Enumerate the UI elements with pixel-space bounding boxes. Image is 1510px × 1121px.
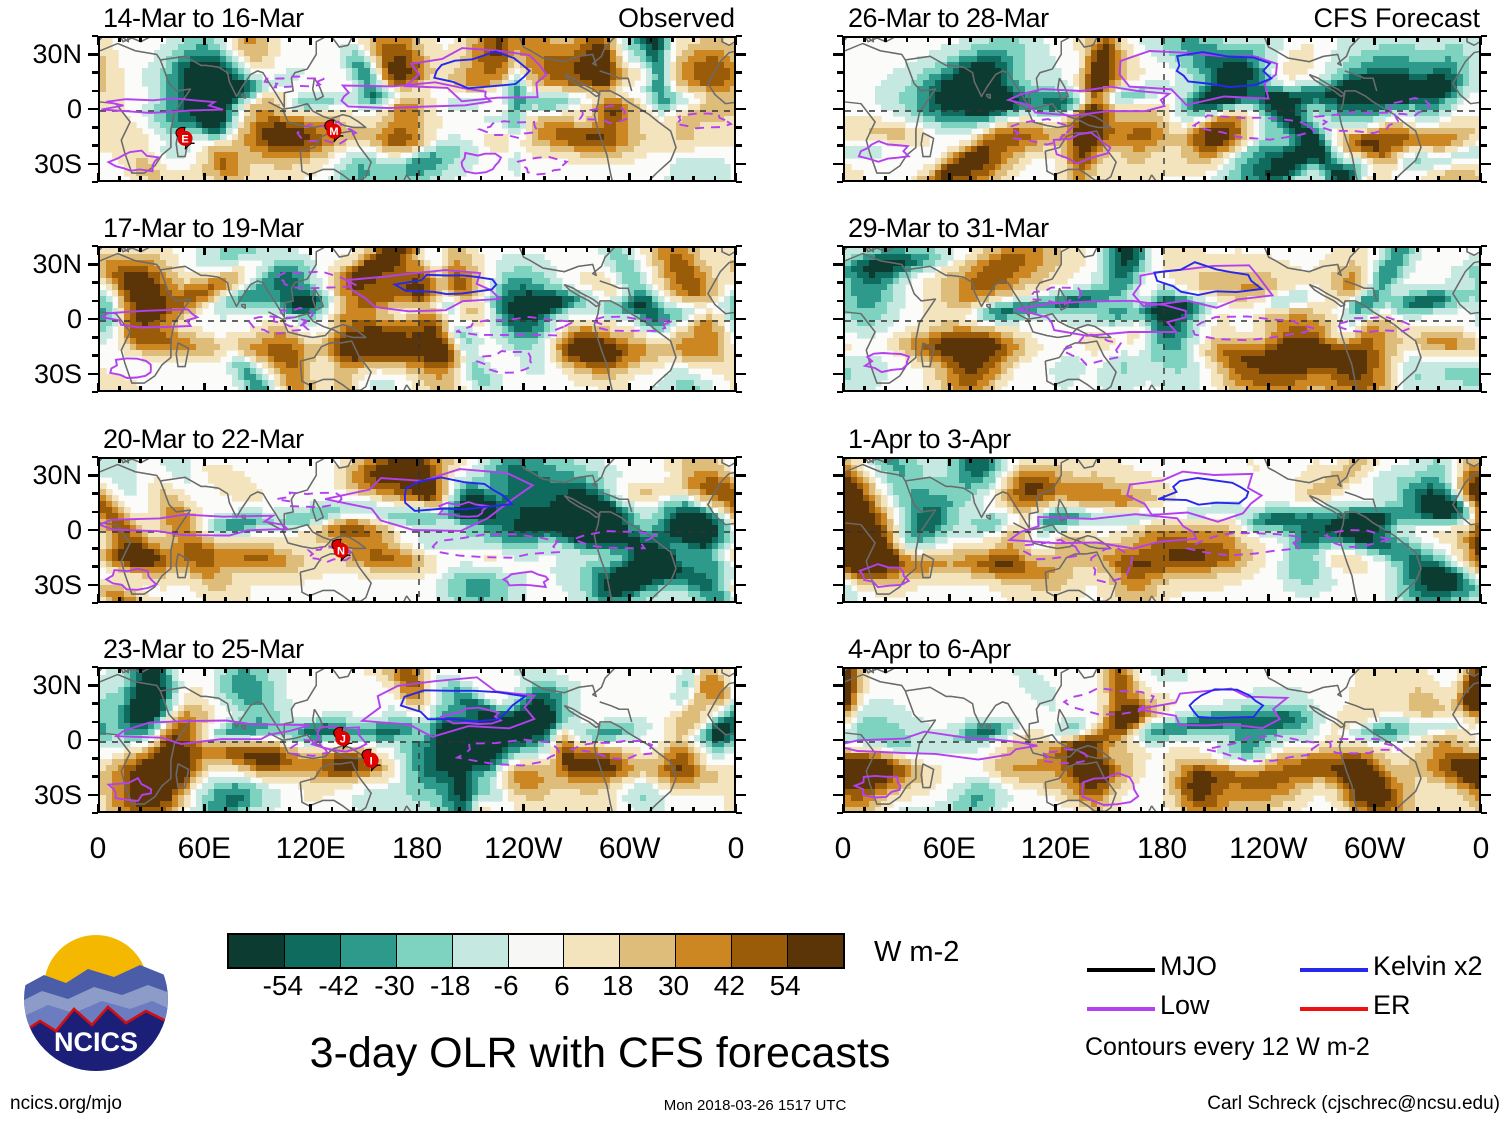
y-ticks-left-panel-7 [843,457,844,603]
x-tick-label: 120W [1229,834,1307,864]
legend-swatch-mjo [1087,968,1155,972]
x-tick-label: 60E [178,834,231,864]
y-tick-label: 0 [2,517,82,544]
y-tick-label: 30N [2,251,82,278]
x-ticks-bottom-panel-2 [98,392,736,393]
map-panel-4: JI [98,667,736,813]
contour-interval-note: Contours every 12 W m-2 [1085,1035,1370,1060]
y-tick-label: 30S [2,782,82,809]
ncics-logo[interactable]: NCICS [22,925,170,1073]
storm-label: N [337,545,345,557]
colorbar-swatch-1 [285,935,341,967]
legend-label-mjo: MJO [1160,953,1217,980]
legend-swatch-kelvin-x2 [1300,968,1368,972]
x-ticks-bottom-panel-3 [98,603,736,604]
y-ticks-right-panel-1 [736,36,737,182]
storm-label: M [329,126,338,138]
legend-swatch-er [1300,1007,1368,1011]
footer-timestamp: Mon 2018-03-26 1517 UTC [664,1097,847,1114]
x-ticks-top-panel-4 [98,667,736,668]
x-tick-label: 60W [599,834,661,864]
x-tick-label: 60W [1344,834,1406,864]
storm-label: I [370,755,373,767]
colorbar-swatch-6 [564,935,620,967]
footer-website[interactable]: ncics.org/mjo [10,1093,122,1115]
colorbar-tick-label: 54 [745,972,825,1000]
colorbar-swatch-0 [229,935,285,967]
y-ticks-right-panel-8 [1481,667,1482,813]
map-panel-1: EM [98,36,736,182]
colorbar [227,933,845,969]
x-ticks-top-panel-6 [843,246,1481,247]
y-ticks-right-panel-4 [736,667,737,813]
y-tick-label: 30N [2,462,82,489]
y-tick-label: 0 [2,96,82,123]
x-ticks-bottom-panel-8 [843,813,1481,814]
y-ticks-left-panel-4 [98,667,99,813]
colorbar-swatch-9 [732,935,788,967]
x-tick-label: 120E [1021,834,1091,864]
x-ticks-top-panel-7 [843,457,1481,458]
x-tick-label: 0 [90,834,107,864]
y-tick-label: 30N [2,41,82,68]
y-ticks-right-panel-7 [1481,457,1482,603]
map-panel-6 [843,246,1481,392]
legend-label-er: ER [1373,992,1411,1019]
x-ticks-top-panel-2 [98,246,736,247]
y-ticks-right-panel-6 [1481,246,1482,392]
x-ticks-top-panel-3 [98,457,736,458]
y-ticks-left-panel-8 [843,667,844,813]
map-panel-3: N [98,457,736,603]
colorbar-swatch-3 [397,935,453,967]
x-tick-label: 60E [923,834,976,864]
panel-title-5: 26-Mar to 28-Mar [848,5,1049,32]
y-ticks-left-panel-2 [98,246,99,392]
x-ticks-bottom-panel-7 [843,603,1481,604]
legend-label-low: Low [1160,992,1210,1019]
x-ticks-bottom-panel-1 [98,182,736,183]
y-ticks-right-panel-2 [736,246,737,392]
x-ticks-bottom-panel-5 [843,182,1481,183]
column-header-right: CFS Forecast [1313,5,1480,32]
y-tick-label: 30S [2,151,82,178]
x-tick-label: 120E [276,834,346,864]
map-panel-2 [98,246,736,392]
y-ticks-right-panel-5 [1481,36,1482,182]
y-tick-label: 30N [2,672,82,699]
x-ticks-bottom-panel-4 [98,813,736,814]
map-panel-8 [843,667,1481,813]
colorbar-swatch-8 [676,935,732,967]
colorbar-swatch-7 [620,935,676,967]
colorbar-swatch-5 [509,935,565,967]
map-panel-7 [843,457,1481,603]
legend-swatch-low [1087,1007,1155,1011]
y-ticks-right-panel-3 [736,457,737,603]
x-tick-label: 180 [1137,834,1187,864]
x-tick-label: 0 [1473,834,1490,864]
x-ticks-top-panel-5 [843,36,1481,37]
x-tick-label: 0 [728,834,745,864]
main-title: 3-day OLR with CFS forecasts [310,1032,891,1075]
column-header-left: Observed [618,5,735,32]
panel-title-3: 20-Mar to 22-Mar [103,426,304,453]
y-tick-label: 0 [2,727,82,754]
x-ticks-top-panel-8 [843,667,1481,668]
y-tick-label: 30S [2,572,82,599]
x-tick-label: 180 [392,834,442,864]
colorbar-swatch-2 [341,935,397,967]
y-ticks-left-panel-6 [843,246,844,392]
y-tick-label: 0 [2,306,82,333]
legend-label-kelvin-x2: Kelvin x2 [1373,953,1483,980]
colorbar-swatch-10 [788,935,843,967]
colorbar-units-label: W m-2 [874,938,959,967]
storm-label: J [340,733,346,745]
panel-title-6: 29-Mar to 31-Mar [848,215,1049,242]
y-ticks-left-panel-1 [98,36,99,182]
x-ticks-top-panel-1 [98,36,736,37]
footer-author: Carl Schreck (cjschrec@ncsu.edu) [1207,1093,1500,1115]
panel-title-1: 14-Mar to 16-Mar [103,5,304,32]
y-ticks-left-panel-3 [98,457,99,603]
panel-title-7: 1-Apr to 3-Apr [848,426,1011,453]
storm-label: E [181,133,188,145]
panel-title-4: 23-Mar to 25-Mar [103,636,304,663]
x-tick-label: 0 [835,834,852,864]
x-tick-label: 120W [484,834,562,864]
map-panel-5 [843,36,1481,182]
y-ticks-left-panel-5 [843,36,844,182]
x-ticks-bottom-panel-6 [843,392,1481,393]
y-tick-label: 30S [2,361,82,388]
colorbar-swatch-4 [453,935,509,967]
panel-title-8: 4-Apr to 6-Apr [848,636,1011,663]
panel-title-2: 17-Mar to 19-Mar [103,215,304,242]
